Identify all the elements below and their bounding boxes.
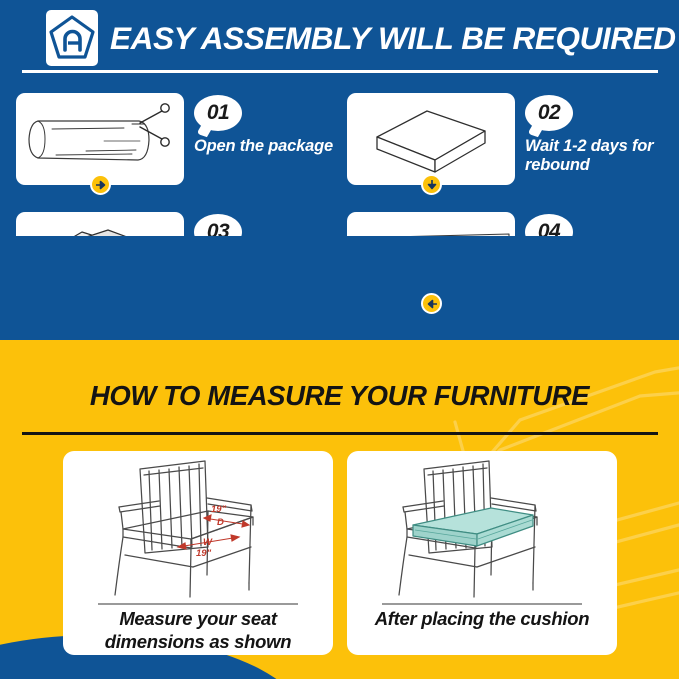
measure-panel-cushion: After placing the cushion — [347, 451, 617, 655]
step-item-01: 01 Open the package — [16, 93, 346, 201]
step-text-block: 02 Wait 1-2 days for rebound — [525, 95, 677, 175]
step-number-badge: 01 — [194, 95, 242, 131]
infographic-page: EASY ASSEMBLY WILL BE REQUIRED — [0, 0, 679, 679]
arrow-right-icon — [90, 174, 111, 195]
house-pentagon-logo-icon — [46, 10, 98, 66]
header-bar: EASY ASSEMBLY WILL BE REQUIRED — [0, 0, 679, 82]
step-text-block: 01 Open the package — [194, 95, 346, 156]
panel-caption: Measure your seat dimensions as shown — [75, 607, 321, 653]
dimension-depth-value: 19" — [211, 504, 227, 515]
page-title: EASY ASSEMBLY WILL BE REQUIRED — [110, 12, 665, 64]
measure-section-divider — [22, 432, 658, 435]
panel-caption: After placing the cushion — [359, 607, 605, 630]
dimension-width-code: W — [203, 537, 213, 548]
assembly-section: EASY ASSEMBLY WILL BE REQUIRED — [0, 0, 679, 340]
blue-section-curved-edge — [0, 236, 679, 340]
step-label: Wait 1-2 days for rebound — [525, 137, 677, 175]
arrow-left-icon — [421, 293, 442, 314]
arrow-down-icon — [421, 174, 442, 195]
chair-with-cushion-icon — [347, 455, 617, 603]
flat-foam-slab-icon — [347, 93, 515, 185]
step-illustration-card — [347, 93, 515, 185]
chair-with-dimensions-icon: 19" D W 19" — [63, 455, 333, 603]
panel-divider — [98, 603, 298, 605]
step-illustration-card — [16, 93, 184, 185]
measure-section-title: HOW TO MEASURE YOUR FURNITURE — [0, 380, 679, 412]
panel-divider — [382, 603, 582, 605]
step-item-02: 02 Wait 1-2 days for rebound — [347, 93, 677, 201]
dimension-depth-code: D — [217, 517, 224, 528]
dimension-width-value: 19" — [196, 548, 212, 559]
step-number-badge: 02 — [525, 95, 573, 131]
rolled-package-with-scissors-icon — [16, 93, 184, 185]
measure-panel-dimensions: 19" D W 19" Measure your seat dimensions… — [63, 451, 333, 655]
step-label: Open the package — [194, 137, 346, 156]
header-divider — [22, 70, 658, 73]
